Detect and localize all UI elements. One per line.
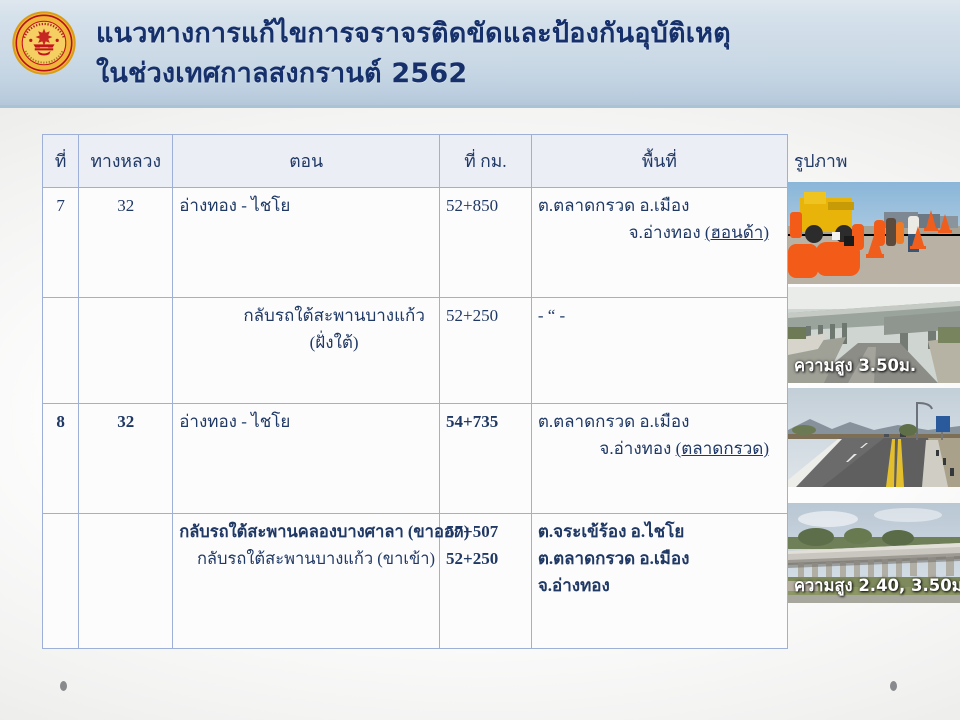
cell-section: อ่างทอง - ไชโย bbox=[173, 188, 440, 298]
area-line-1: - “ - bbox=[538, 302, 781, 329]
area-line-2: จ.อ่างทอง (ฮอนด้า) bbox=[538, 219, 781, 246]
table-row: 8 32 อ่างทอง - ไชโย 54+735 ต.ตลาดกรวด อ.… bbox=[43, 404, 788, 514]
cell-no: 7 bbox=[43, 188, 79, 298]
photo-road-work-cones-image bbox=[788, 182, 960, 284]
section-line-2: กลับรถใต้สะพานบางแก้ว (ขาเข้า) bbox=[179, 545, 435, 572]
photo-caption: ความสูง 2.40, 3.50ม. bbox=[794, 573, 960, 599]
cell-area: ต.จระเข้ร้อง อ.ไชโย ต.ตลาดกรวด อ.เมือง จ… bbox=[531, 514, 787, 649]
area-line-2-text: จ.อ่างทอง bbox=[599, 439, 675, 458]
title-line-1: แนวทางการแก้ไขการจราจรติดขัดและป้องกันอุ… bbox=[96, 14, 926, 54]
section-line-1: กลับรถใต้สะพานบางแก้ว bbox=[235, 302, 433, 329]
header-banner: แนวทางการแก้ไขการจราจรติดขัดและป้องกันอุ… bbox=[0, 0, 960, 108]
km-line-1: 52+850 bbox=[446, 192, 525, 219]
cell-km: 57+507 52+250 bbox=[440, 514, 532, 649]
area-line-2-text: จ.อ่างทอง bbox=[629, 223, 705, 242]
area-line-3: จ.อ่างทอง bbox=[538, 572, 781, 599]
page-title: แนวทางการแก้ไขการจราจรติดขัดและป้องกันอุ… bbox=[96, 14, 926, 94]
cell-area: ต.ตลาดกรวด อ.เมือง จ.อ่างทอง (ฮอนด้า) bbox=[531, 188, 787, 298]
cell-km: 52+250 bbox=[440, 298, 532, 404]
col-header-highway: ทางหลวง bbox=[79, 135, 173, 188]
section-line-1: อ่างทอง - ไชโย bbox=[179, 408, 433, 435]
table-row: กลับรถใต้สะพานบางแก้ว (ฝั่งใต้) 52+250 -… bbox=[43, 298, 788, 404]
area-line-2-link: (ฮอนด้า) bbox=[705, 223, 769, 242]
photo-caption: ความสูง 3.50ม. bbox=[794, 353, 916, 379]
km-line-2: 52+250 bbox=[446, 545, 525, 572]
cell-highway: 32 bbox=[79, 404, 173, 514]
highway-locations-table: ที่ ทางหลวง ตอน ที่ กม. พื้นที่ รูปภาพ 7… bbox=[42, 134, 788, 649]
title-line-2: ในช่วงเทศกาลสงกรานต์ 2562 bbox=[96, 54, 926, 94]
department-of-highways-seal-icon bbox=[11, 10, 77, 76]
cell-area: - “ - bbox=[531, 298, 787, 404]
table-row: กลับรถใต้สะพานคลองบางศาลา (ขาออก) กลับรถ… bbox=[43, 514, 788, 649]
cell-no: 8 bbox=[43, 404, 79, 514]
table-row: 7 32 อ่างทอง - ไชโย 52+850 ต.ตลาดกรวด อ.… bbox=[43, 188, 788, 298]
area-line-2: จ.อ่างทอง (ตลาดกรวด) bbox=[538, 435, 781, 462]
area-line-1: ต.จระเข้ร้อง อ.ไชโย bbox=[538, 518, 781, 545]
cell-no bbox=[43, 298, 79, 404]
col-header-area: พื้นที่ bbox=[531, 135, 787, 188]
section-line-2: (ฝั่งใต้) bbox=[235, 329, 433, 356]
photo-concrete-viaduct: ความสูง 2.40, 3.50ม. bbox=[788, 503, 960, 603]
col-header-no: ที่ bbox=[43, 135, 79, 188]
slide-canvas: แนวทางการแก้ไขการจราจรติดขัดและป้องกันอุ… bbox=[0, 0, 960, 720]
km-line-1: 54+735 bbox=[446, 408, 525, 435]
decorative-dot-right bbox=[890, 681, 897, 691]
area-line-2: ต.ตลาดกรวด อ.เมือง bbox=[538, 545, 781, 572]
area-line-2-link: (ตลาดกรวด) bbox=[676, 439, 769, 458]
photo-road-work-cones bbox=[788, 182, 960, 284]
km-line-1: 57+507 bbox=[446, 518, 525, 545]
cell-no bbox=[43, 514, 79, 649]
content-table-wrapper: ที่ ทางหลวง ตอน ที่ กม. พื้นที่ รูปภาพ 7… bbox=[42, 134, 788, 649]
cell-km: 52+850 bbox=[440, 188, 532, 298]
section-line-1: กลับรถใต้สะพานคลองบางศาลา (ขาออก) bbox=[179, 518, 435, 545]
table-header-row: ที่ ทางหลวง ตอน ที่ กม. พื้นที่ รูปภาพ bbox=[43, 135, 788, 188]
photo-highway-lane-image bbox=[788, 388, 960, 487]
cell-highway bbox=[79, 298, 173, 404]
area-line-1: ต.ตลาดกรวด อ.เมือง bbox=[538, 192, 781, 219]
cell-highway: 32 bbox=[79, 188, 173, 298]
section-line-1: อ่างทอง - ไชโย bbox=[179, 192, 433, 219]
cell-section: กลับรถใต้สะพานบางแก้ว (ฝั่งใต้) bbox=[173, 298, 440, 404]
area-line-1: ต.ตลาดกรวด อ.เมือง bbox=[538, 408, 781, 435]
km-line-1: 52+250 bbox=[446, 302, 525, 329]
decorative-dot-left bbox=[60, 681, 67, 691]
col-header-section: ตอน bbox=[173, 135, 440, 188]
cell-highway bbox=[79, 514, 173, 649]
cell-section: กลับรถใต้สะพานคลองบางศาลา (ขาออก) กลับรถ… bbox=[173, 514, 440, 649]
photo-highway-lane bbox=[788, 388, 960, 487]
cell-section: อ่างทอง - ไชโย bbox=[173, 404, 440, 514]
cell-km: 54+735 bbox=[440, 404, 532, 514]
cell-area: ต.ตลาดกรวด อ.เมือง จ.อ่างทอง (ตลาดกรวด) bbox=[531, 404, 787, 514]
photo-bridge-underpass: ความสูง 3.50ม. bbox=[788, 287, 960, 383]
col-header-km: ที่ กม. bbox=[440, 135, 532, 188]
